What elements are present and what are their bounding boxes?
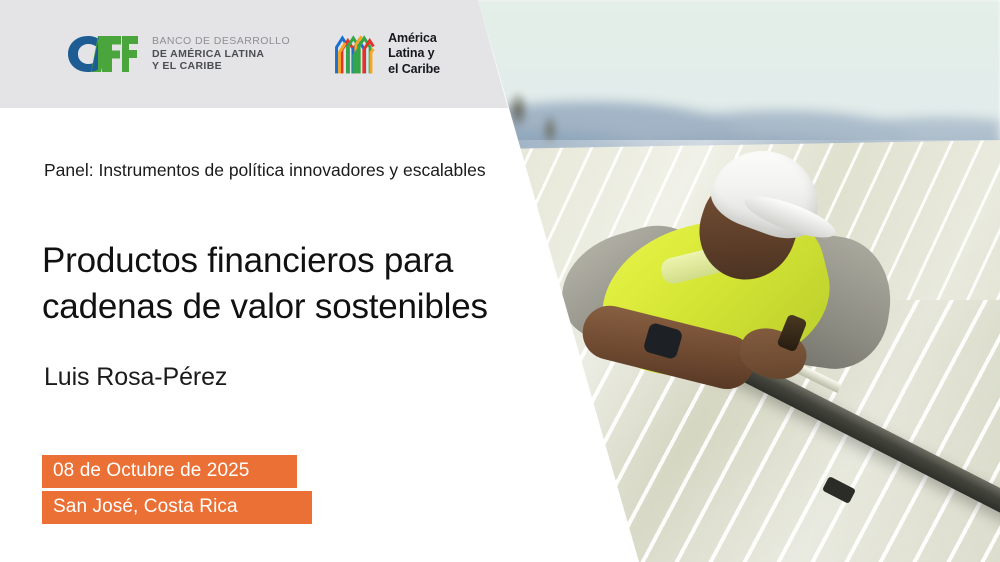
logo-row: BANCO DE DESARROLLO DE AMÉRICA LATINA Y … <box>0 0 440 108</box>
caf-logo-line2: DE AMÉRICA LATINA <box>152 48 290 60</box>
alc-logo-line3: el Caribe <box>388 62 440 77</box>
alc-logo-line1: América <box>388 31 440 46</box>
caf-logo: BANCO DE DESARROLLO DE AMÉRICA LATINA Y … <box>66 34 290 74</box>
caf-logo-text: BANCO DE DESARROLLO DE AMÉRICA LATINA Y … <box>152 35 290 72</box>
caf-logo-line3: Y EL CARIBE <box>152 60 290 72</box>
page-title: Productos financieros para cadenas de va… <box>42 238 562 329</box>
status-badge-location: San José, Costa Rica <box>42 491 312 524</box>
panel-kicker: Panel: Instrumentos de política innovado… <box>44 157 494 184</box>
america-latina-caribe-logo: América Latina y el Caribe <box>334 31 440 77</box>
caf-logo-line1: BANCO DE DESARROLLO <box>152 35 290 47</box>
caf-logo-mark <box>66 34 140 74</box>
presentation-slide: BANCO DE DESARROLLO DE AMÉRICA LATINA Y … <box>0 0 1000 562</box>
status-badge-date: 08 de Octubre de 2025 <box>42 455 297 488</box>
speaker-name: Luis Rosa-Pérez <box>44 363 227 392</box>
america-latina-caribe-chevron-icon <box>334 33 376 75</box>
america-latina-caribe-logo-text: América Latina y el Caribe <box>388 31 440 77</box>
alc-logo-line2: Latina y <box>388 46 440 61</box>
event-badges: 08 de Octubre de 2025 San José, Costa Ri… <box>42 455 312 524</box>
